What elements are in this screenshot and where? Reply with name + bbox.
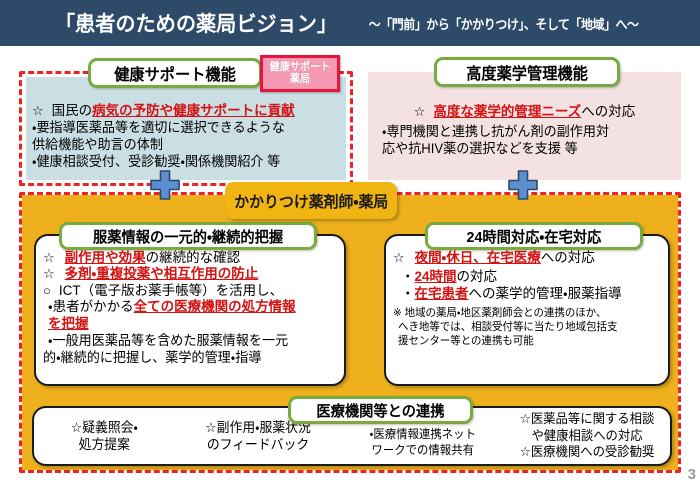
unified-item-1-highlight: 副作用や効果	[65, 250, 146, 266]
star-icon: ☆	[414, 104, 426, 120]
h24-note-line-3: 援センター等との連携も可能	[398, 335, 648, 349]
unified-sub-2-highlight: を把握	[48, 316, 89, 332]
banner-kakaritsuke-pharmacist-label: かかりつけ薬剤師・薬局	[234, 190, 388, 212]
box-24h-body: ☆ 夜間・休日、在宅医療への対応 ・24時間の対応 ・在宅患者への薬学的管理・服…	[386, 250, 668, 349]
bottom-column-1: ☆疑義照会・ 処方提案	[34, 419, 182, 453]
unified-item-3-plain: ICT（電子版お薬手帳等）を活用し、	[59, 283, 283, 299]
circle-icon: ○	[43, 283, 51, 299]
bottom-col4-line2: や健康相談への対応	[512, 428, 662, 444]
advanced-headline-highlight: 高度な薬学的管理ニーズ	[433, 104, 581, 120]
panel-health-support: ☆ 国民の病気の予防や健康サポートに貢献 ・要指導医薬品等を適切に選択できるよう…	[26, 77, 346, 180]
header-health-support-function-label: 健康サポート機能	[114, 61, 236, 85]
unified-sub-4: 的・継続的に把握し、薬学的管理・指導	[43, 349, 328, 366]
health-bullet-2: 供給機能や助言の体制	[32, 136, 331, 153]
box-24h-home-care: ☆ 夜間・休日、在宅医療への対応 ・24時間の対応 ・在宅患者への薬学的管理・服…	[384, 234, 670, 386]
bottom-column-4: ☆医薬品等に関する相談 や健康相談への対応 ☆医療機関への受診勧奨	[512, 411, 670, 460]
header-unified-medication-info: 服薬情報の一元的・継続的把握	[59, 222, 317, 250]
star-icon: ☆	[43, 266, 55, 282]
header-unified-medication-info-label: 服薬情報の一元的・継続的把握	[93, 226, 283, 247]
header-24h-home-care: 24時間対応・在宅対応	[425, 222, 643, 250]
star-icon: ☆	[393, 250, 405, 266]
advanced-bullet-2: 応や抗HIV薬の選択などを支援 等	[382, 140, 666, 157]
h24-item-3-highlight: 在宅患者	[415, 286, 469, 302]
box-unified-medication-info: ☆ 副作用や効果の継続的な確認 ☆ 多剤・重複投薬や相互作用の防止 ○ ICT（…	[34, 234, 346, 386]
h24-item-3-marker: ・	[401, 286, 415, 302]
h24-item-1-highlight: 夜間・休日、在宅医療	[415, 250, 541, 266]
health-headline-row: ☆ 国民の病気の予防や健康サポートに貢献	[32, 103, 340, 119]
badge-health-support-pharmacy: 健康サポート 薬局	[260, 55, 340, 92]
header-medical-cooperation: 医療機関等との連携	[288, 396, 473, 424]
unified-item-2: ☆ 多剤・重複投薬や相互作用の防止	[43, 266, 337, 282]
panel-advanced-management-body: ☆ 高度な薬学的管理ニーズへの対応 ・専門機関と連携し抗がん剤の副作用対 応や抗…	[368, 104, 681, 157]
plus-icon	[150, 170, 180, 200]
star-icon: ☆	[32, 103, 44, 119]
panel-health-support-body: ☆ 国民の病気の予防や健康サポートに貢献 ・要指導医薬品等を適切に選択できるよう…	[26, 103, 346, 170]
health-headline-prefix: 国民の	[52, 103, 93, 119]
box-unified-body: ☆ 副作用や効果の継続的な確認 ☆ 多剤・重複投薬や相互作用の防止 ○ ICT（…	[36, 250, 344, 366]
advanced-headline-row: ☆ 高度な薬学的管理ニーズへの対応	[374, 104, 675, 120]
header-medical-cooperation-label: 医療機関等との連携	[316, 400, 444, 421]
health-bullet-3: ・健康相談受付、受診勧奨・関係機関紹介 等	[32, 153, 331, 170]
star-icon: ☆	[43, 250, 55, 266]
h24-item-1: ☆ 夜間・休日、在宅医療への対応	[393, 250, 661, 266]
health-bullet-1: ・要指導医薬品等を適切に選択できるような	[32, 119, 331, 136]
h24-item-2: ・24時間の対応	[401, 269, 661, 285]
h24-item-2-marker: ・	[401, 269, 415, 285]
badge-health-support-pharmacy-line2: 薬局	[290, 74, 310, 86]
health-headline-highlight: 病気の予防や健康サポートに貢献	[92, 103, 295, 119]
bottom-col4-line1: ☆医薬品等に関する相談	[512, 411, 662, 427]
banner-kakaritsuke-pharmacist: かかりつけ薬剤師・薬局	[225, 182, 397, 219]
unified-sub-3: ・一般用医薬品等を含めた服薬情報を一元	[48, 332, 328, 349]
h24-item-1-plain: への対応	[541, 250, 595, 266]
unified-item-3: ○ ICT（電子版お薬手帳等）を活用し、	[43, 283, 337, 299]
page-subtitle: ～「門前」から「かかりつけ」、そして「地域」へ～	[369, 14, 639, 33]
h24-note: ※ 地域の薬局・地区薬剤師会との連携のほか、 へき地等では、相談受付等に当たり地…	[393, 307, 661, 349]
unified-sub-1-plain: ・患者がかかる	[48, 299, 134, 315]
page-number: 3	[688, 466, 696, 483]
h24-note-line-2: へき地等では、相談受付等に当たり地域包括支	[398, 321, 648, 335]
slide-canvas: 「患者のための薬局ビジョン」 ～「門前」から「かかりつけ」、そして「地域」へ～ …	[0, 0, 700, 484]
unified-sub-2: を把握	[48, 316, 337, 332]
h24-item-2-plain: の対応	[457, 269, 498, 285]
unified-item-1-plain: の継続的な確認	[146, 250, 241, 266]
unified-item-1: ☆ 副作用や効果の継続的な確認	[43, 250, 337, 266]
header-health-support-function: 健康サポート機能	[88, 58, 262, 88]
header-24h-home-care-label: 24時間対応・在宅対応	[467, 226, 602, 247]
page-title: 「患者のための薬局ビジョン」	[55, 8, 337, 38]
bottom-column-2: ☆副作用・服薬状況 のフィードバック	[182, 419, 342, 453]
h24-item-2-highlight: 24時間	[415, 269, 457, 285]
panel-advanced-management: ☆ 高度な薬学的管理ニーズへの対応 ・専門機関と連携し抗がん剤の副作用対 応や抗…	[368, 72, 681, 180]
advanced-bullet-1: ・専門機関と連携し抗がん剤の副作用対	[382, 123, 666, 140]
h24-item-3-plain: への薬学的管理・服薬指導	[469, 286, 622, 302]
header-advanced-management-function-label: 高度薬学管理機能	[466, 60, 588, 84]
bottom-col1-line1: ☆疑義照会・	[34, 419, 175, 436]
advanced-headline-suffix: への対応	[581, 104, 635, 120]
header-advanced-management-function: 高度薬学管理機能	[434, 57, 620, 87]
bottom-col1-line2: 処方提案	[34, 436, 175, 453]
plus-icon	[508, 170, 538, 200]
unified-item-2-highlight: 多剤・重複投薬や相互作用の防止	[65, 266, 259, 282]
unified-sub-1-highlight: 全ての医療機関の処方情報	[134, 299, 296, 315]
bottom-col3-line1: ・医療情報連携ネット	[342, 427, 504, 442]
bottom-col4-line3: ☆医療機関への受診勧奨	[512, 444, 662, 460]
bottom-col2-line2: のフィードバック	[182, 436, 334, 453]
h24-item-3: ・在宅患者への薬学的管理・服薬指導	[401, 286, 661, 302]
unified-sub-1: ・患者がかかる全ての医療機関の処方情報	[48, 299, 337, 315]
bottom-col3-line2: ワークでの情報共有	[342, 443, 504, 458]
slide-title-bar: 「患者のための薬局ビジョン」 ～「門前」から「かかりつけ」、そして「地域」へ～	[0, 0, 700, 48]
h24-note-line-1: ※ 地域の薬局・地区薬剤師会との連携のほか、	[393, 307, 648, 321]
